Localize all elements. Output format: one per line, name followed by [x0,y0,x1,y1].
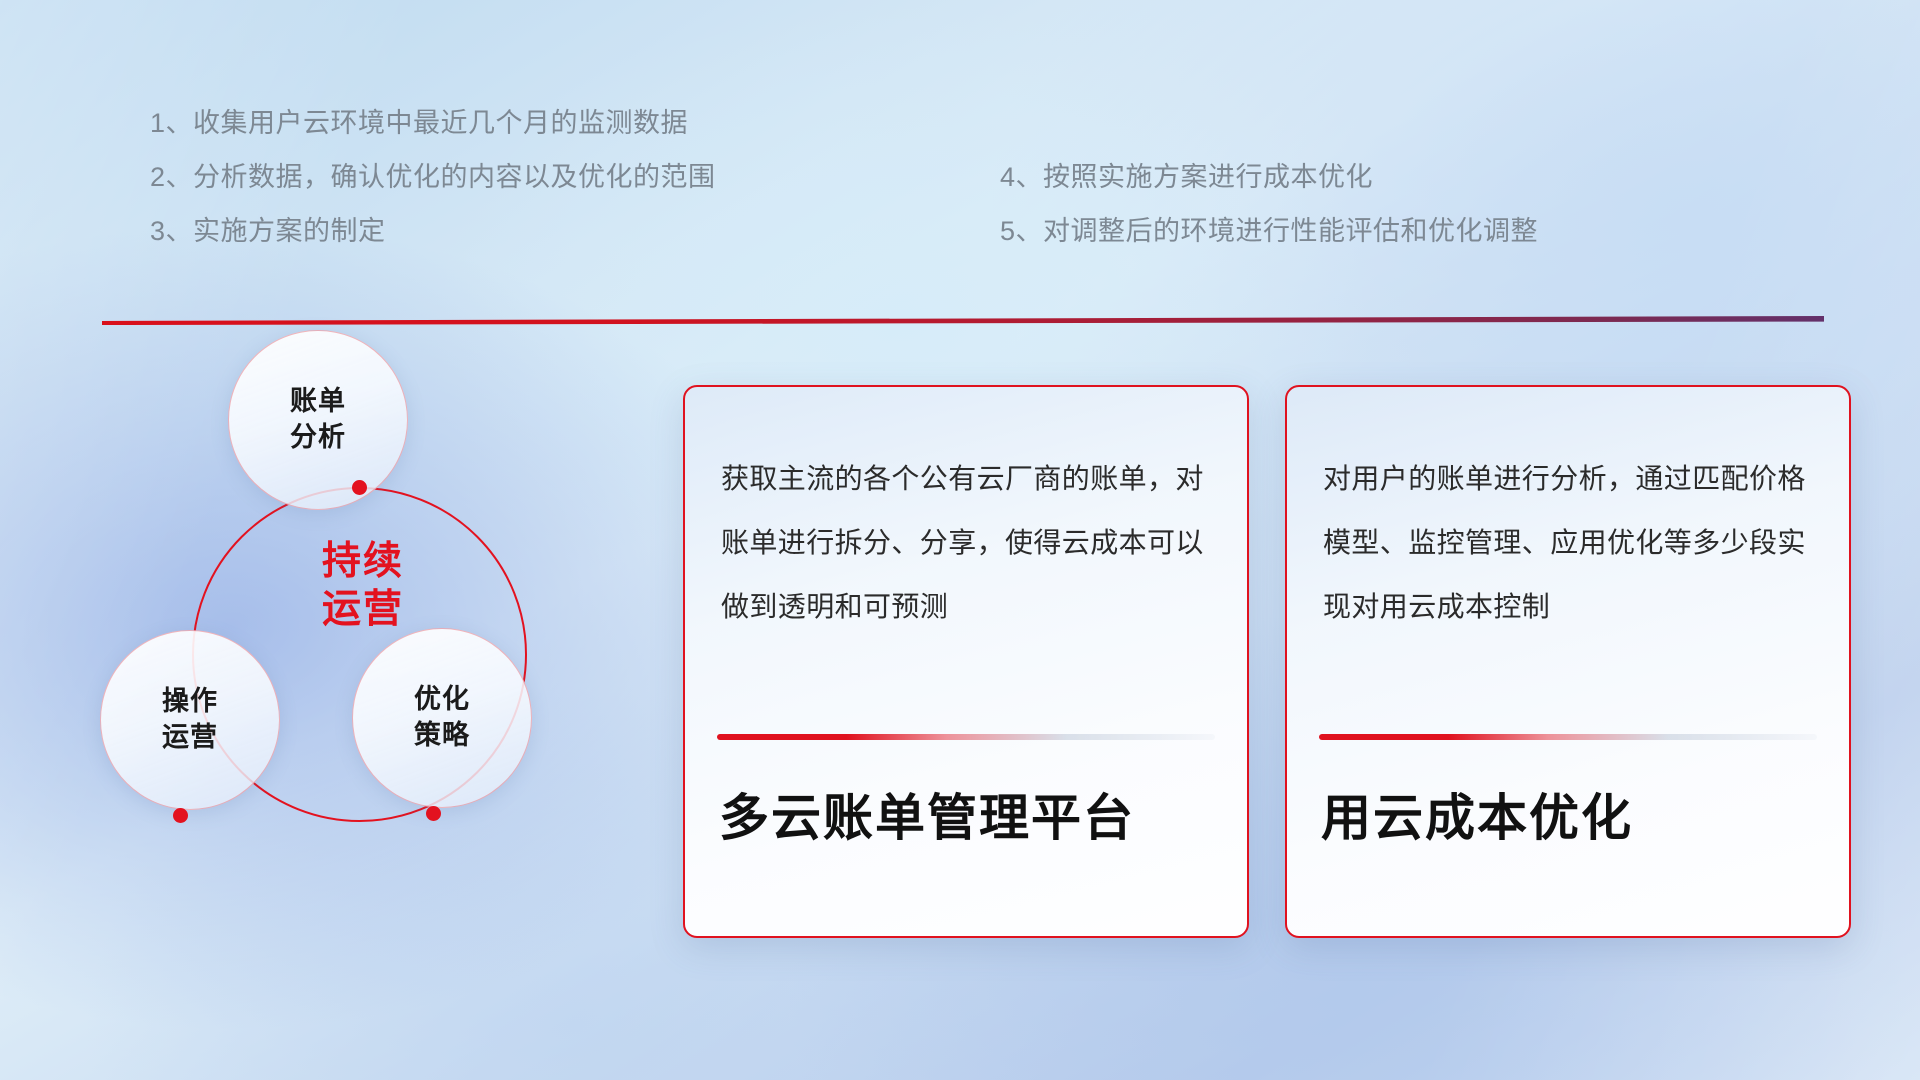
diagram-node-label: 优化 策略 [414,682,470,753]
card-multicloud-billing-platform[interactable]: 获取主流的各个公有云厂商的账单，对账单进行拆分、分享，使得云成本可以做到透明和可… [683,385,1249,938]
step-item-5: 5、对调整后的环境进行性能评估和优化调整 [1000,204,1538,258]
slide-canvas: 1、收集用户云环境中最近几个月的监测数据 2、分析数据，确认优化的内容以及优化的… [0,0,1920,1080]
center-label-line2: 运营 [322,588,404,631]
diagram-connector-dot-right [426,806,441,821]
diagram-node-label: 账单 分析 [290,384,346,455]
continuous-operation-diagram: 账单 分析 操作 运营 优化 策略 持续 运营 [100,330,640,950]
diagram-node-operations[interactable]: 操作 运营 [100,630,280,810]
center-label-line1: 持续 [322,540,404,583]
card-accent-rule [717,734,1215,740]
steps-right-column: 4、按照实施方案进行成本优化 5、对调整后的环境进行性能评估和优化调整 [1000,150,1538,258]
node-label-line1: 优化 [414,684,470,714]
step-item-1: 1、收集用户云环境中最近几个月的监测数据 [150,96,716,150]
diagram-node-label: 操作 运营 [162,684,218,755]
diagram-center-label: 持续 运营 [268,538,458,633]
node-label-line1: 账单 [290,386,346,416]
card-body-text: 获取主流的各个公有云厂商的账单，对账单进行拆分、分享，使得云成本可以做到透明和可… [721,447,1217,639]
diagram-node-optimization-strategy[interactable]: 优化 策略 [352,628,532,808]
node-label-line2: 运营 [162,722,218,752]
card-title: 多云账单管理平台 [719,787,1227,850]
steps-left-column: 1、收集用户云环境中最近几个月的监测数据 2、分析数据，确认优化的内容以及优化的… [150,96,716,258]
diagram-connector-dot-top [352,480,367,495]
card-accent-rule [1319,734,1817,740]
step-item-2: 2、分析数据，确认优化的内容以及优化的范围 [150,150,716,204]
card-cloud-cost-optimization[interactable]: 对用户的账单进行分析，通过匹配价格模型、监控管理、应用优化等多少段实现对用云成本… [1285,385,1851,938]
card-title: 用云成本优化 [1321,787,1829,850]
diagram-node-bill-analysis[interactable]: 账单 分析 [228,330,408,510]
diagram-connector-dot-left [173,808,188,823]
card-body-text: 对用户的账单进行分析，通过匹配价格模型、监控管理、应用优化等多少段实现对用云成本… [1323,447,1819,639]
node-label-line2: 分析 [290,422,346,452]
section-divider [102,316,1824,325]
step-item-3: 3、实施方案的制定 [150,204,716,258]
step-item-4: 4、按照实施方案进行成本优化 [1000,150,1538,204]
divider-bar [102,316,1824,325]
node-label-line1: 操作 [162,686,218,716]
node-label-line2: 策略 [414,720,470,750]
